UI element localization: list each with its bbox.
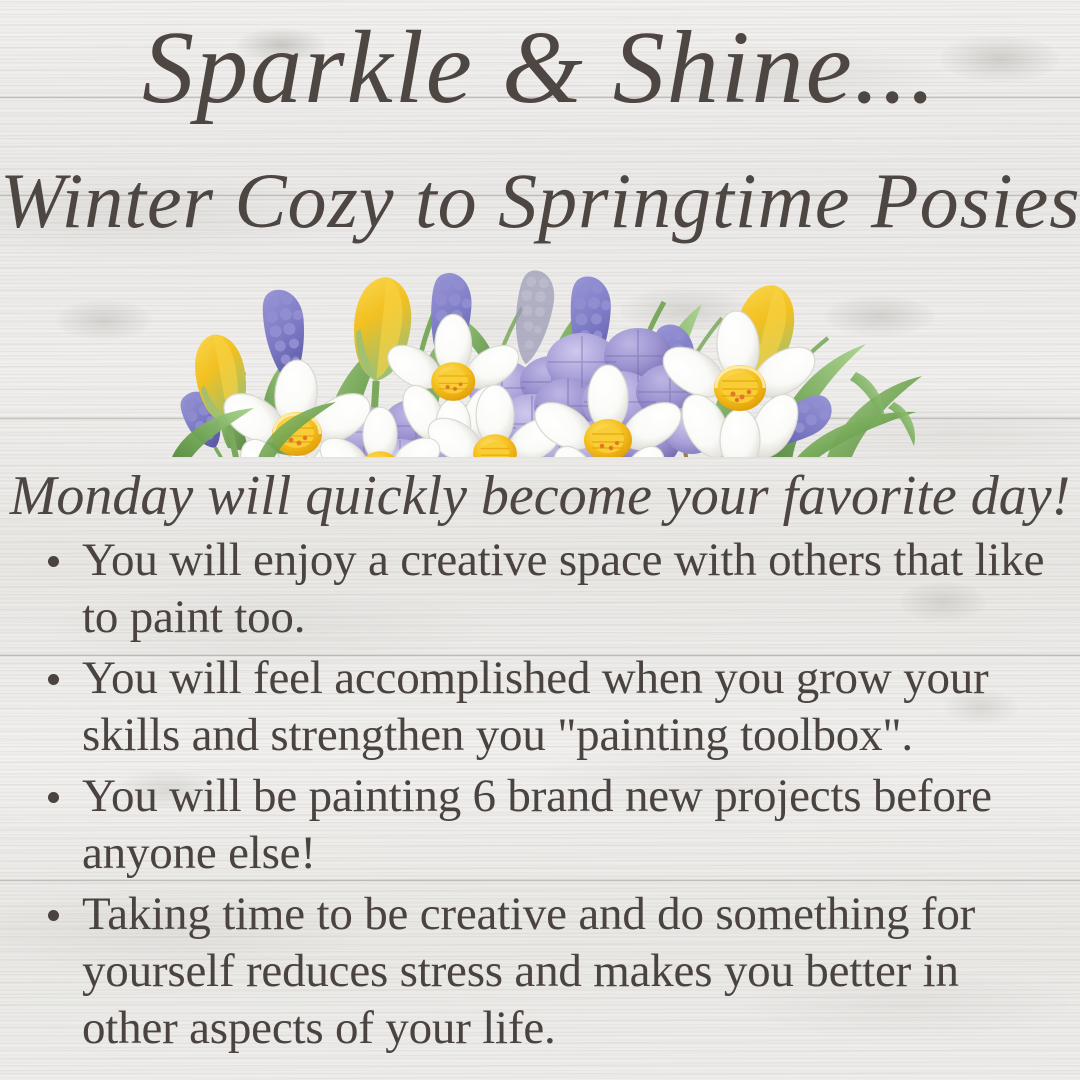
bullet-dot-icon <box>48 674 59 685</box>
bullet-dot-icon <box>48 910 59 921</box>
tagline: Monday will quickly become your favorite… <box>0 468 1080 524</box>
title-line-1: Sparkle & Shine... <box>0 16 1080 120</box>
list-item-text: You will feel accomplished when you grow… <box>82 652 989 761</box>
list-item: You will feel accomplished when you grow… <box>34 650 1056 764</box>
list-item-text: You will enjoy a creative space with oth… <box>82 534 1044 643</box>
benefits-list: You will enjoy a creative space with oth… <box>34 532 1056 1061</box>
list-item: Taking time to be creative and do someth… <box>34 886 1056 1057</box>
wood-knot <box>56 300 152 340</box>
poster-canvas: Sparkle & Shine... Winter Cozy to Spring… <box>0 0 1080 1080</box>
title-line-2: Winter Cozy to Springtime Posies! <box>0 162 1080 240</box>
bullet-dot-icon <box>48 556 59 567</box>
list-item-text: Taking time to be creative and do someth… <box>82 888 975 1054</box>
list-item: You will enjoy a creative space with oth… <box>34 532 1056 646</box>
bullet-dot-icon <box>48 792 59 803</box>
daffodil-corona <box>431 362 475 401</box>
daffodil-corona <box>714 365 766 411</box>
spring-flower-bouquet-image <box>150 252 940 457</box>
list-item: You will be painting 6 brand new project… <box>34 768 1056 882</box>
list-item-text: You will be painting 6 brand new project… <box>82 770 992 879</box>
